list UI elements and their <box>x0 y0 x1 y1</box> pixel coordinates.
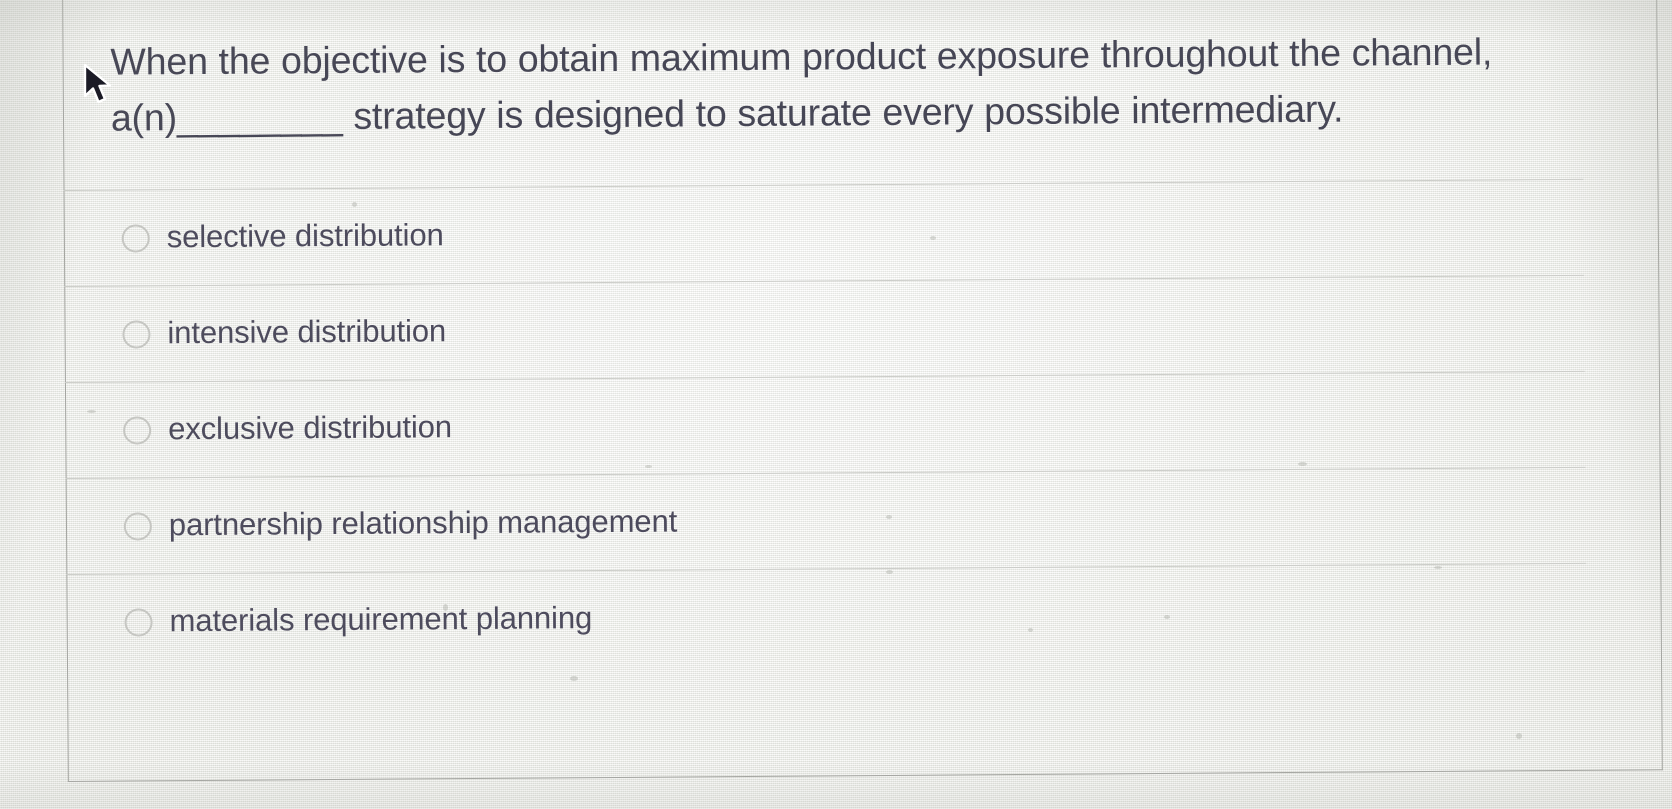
radio-button-icon[interactable] <box>123 416 151 444</box>
answer-option-label: materials requirement planning <box>169 602 592 639</box>
radio-button-icon[interactable] <box>122 320 150 348</box>
radio-button-icon[interactable] <box>122 224 150 252</box>
answer-option-label: partnership relationship management <box>169 505 678 543</box>
answer-option-intensive-distribution[interactable]: intensive distribution <box>64 275 1585 382</box>
answer-option-selective-distribution[interactable]: selective distribution <box>63 179 1584 286</box>
answer-options-list: selective distribution intensive distrib… <box>63 179 1586 670</box>
answer-option-label: intensive distribution <box>167 315 446 351</box>
answer-option-label: selective distribution <box>167 219 444 255</box>
radio-button-icon[interactable] <box>124 512 152 540</box>
answer-option-label: exclusive distribution <box>168 411 452 447</box>
answer-option-exclusive-distribution[interactable]: exclusive distribution <box>65 371 1586 478</box>
radio-button-icon[interactable] <box>124 608 152 636</box>
answer-option-partnership-relationship-management[interactable]: partnership relationship management <box>66 467 1587 574</box>
answer-option-materials-requirement-planning[interactable]: materials requirement planning <box>66 563 1587 670</box>
question-content: When the objective is to obtain maximum … <box>62 0 1668 809</box>
question-stem: When the objective is to obtain maximum … <box>110 23 1526 145</box>
